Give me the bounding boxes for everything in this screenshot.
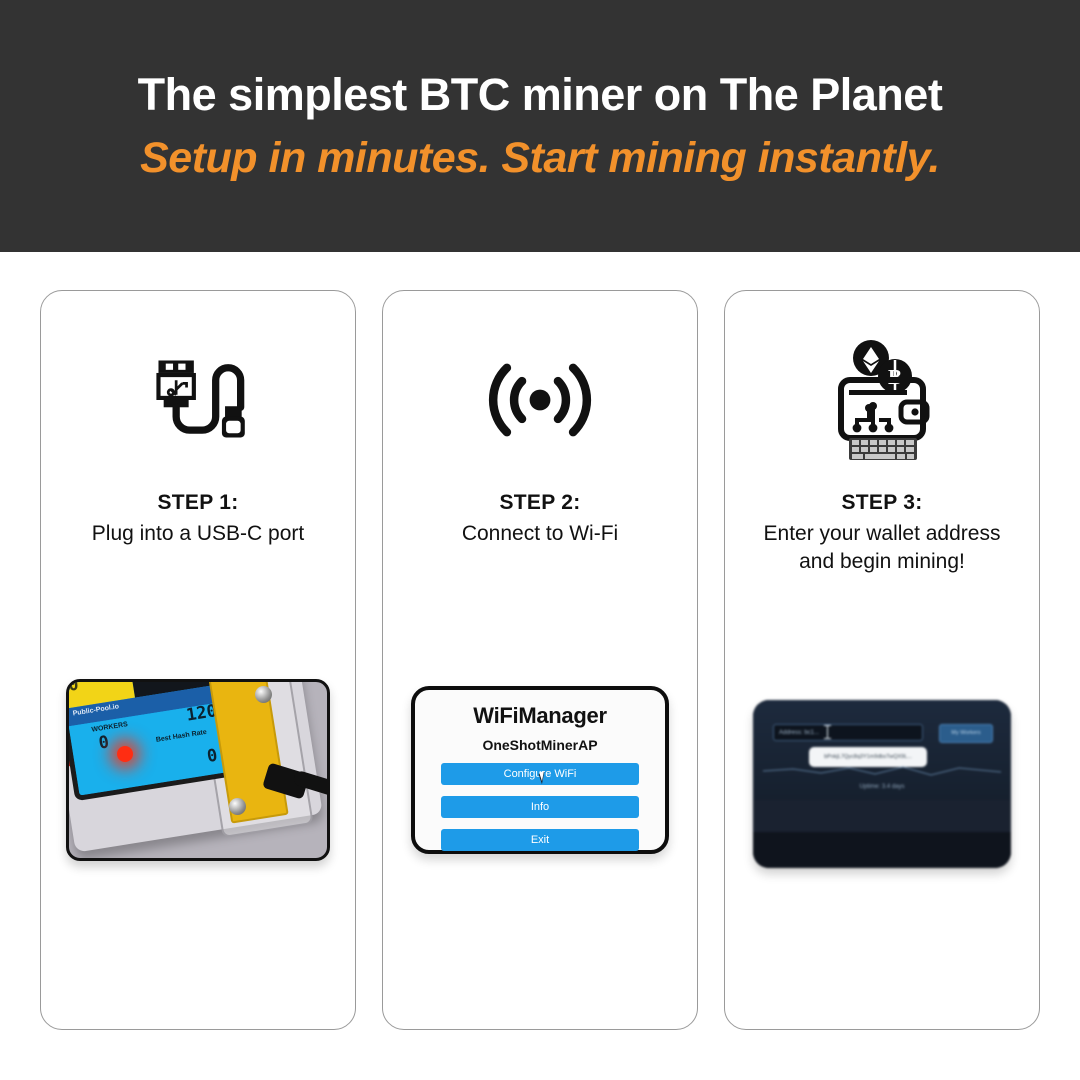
wallet-address-input[interactable]: Address: bc1... [773,724,923,741]
wifimanager-ssid: OneShotMinerAP [441,737,639,753]
usb-cable-icon [41,301,355,491]
step-2-description: Connect to Wi-Fi [420,520,660,548]
my-workers-button[interactable]: My Workers [939,724,993,743]
step-1-media: 0 0 0 d 00:43:13 Public-Pool.io WORKERS … [41,679,355,897]
step-1-description: Plug into a USB-C port [78,520,318,548]
step-card-2: STEP 2: Connect to Wi-Fi WiFiManager One… [382,290,698,1030]
step-1-label: STEP 1: [78,491,318,515]
wireless-signal-icon [383,301,697,491]
exit-button[interactable]: Exit [441,829,639,851]
wifimanager-screenshot: WiFiManager OneShotMinerAP Configure WiF… [411,686,669,854]
step-1-text: STEP 1: Plug into a USB-C port [78,491,318,548]
step-3-description: Enter your wallet address and begin mini… [762,520,1002,576]
promo-page: The simplest BTC miner on The Planet Set… [0,0,1080,1080]
step-card-1: STEP 1: Plug into a USB-C port 0 0 0 [40,290,356,1030]
hashrate-chart [763,762,1001,780]
step-card-3: B [724,290,1040,1030]
lcd-top-value: 0 [67,679,80,696]
step-3-text: STEP 3: Enter your wallet address and be… [762,491,1002,576]
wifimanager-title: WiFiManager [441,703,639,729]
uptime-status: Uptime: 3.4 days [753,784,1011,790]
page-title: The simplest BTC miner on The Planet [138,71,943,118]
miner-dashboard-screenshot: Address: bc1... My Workers bPnkjL7Qyc8q3… [753,700,1011,868]
steps-row: STEP 1: Plug into a USB-C port 0 0 0 [40,290,1040,1030]
step-2-media: WiFiManager OneShotMinerAP Configure WiF… [383,686,697,890]
step-3-media: Address: bc1... My Workers bPnkjL7Qyc8q3… [725,700,1039,904]
step-2-label: STEP 2: [420,491,660,515]
info-button[interactable]: Info [441,796,639,818]
step-3-label: STEP 3: [762,491,1002,515]
step-2-text: STEP 2: Connect to Wi-Fi [420,491,660,548]
crypto-wallet-keyboard-icon: B [725,301,1039,491]
page-subtitle: Setup in minutes. Start mining instantly… [140,136,940,181]
configure-wifi-button[interactable]: Configure WiFi [441,763,639,785]
text-cursor-icon [827,725,828,739]
miner-device-photo: 0 0 0 d 00:43:13 Public-Pool.io WORKERS … [66,679,330,861]
header-banner: The simplest BTC miner on The Planet Set… [0,0,1080,252]
